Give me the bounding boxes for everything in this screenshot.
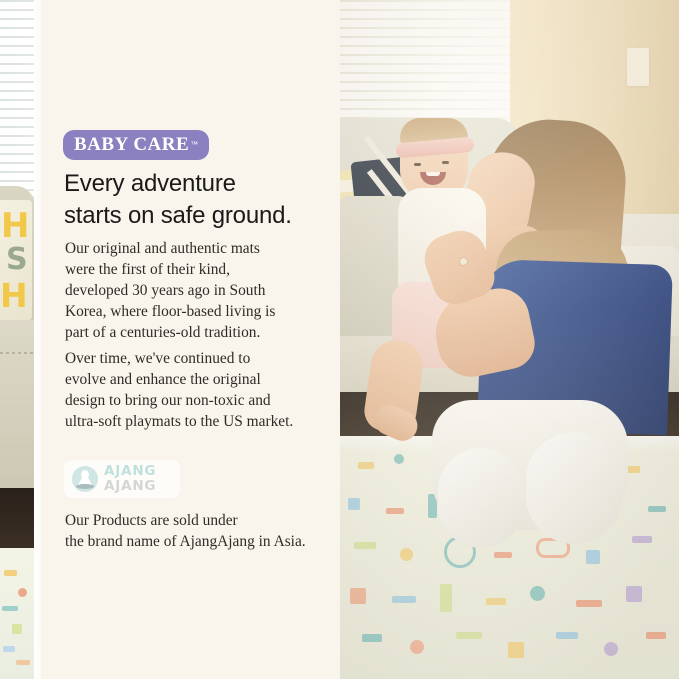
paragraph2-line-4: ultra-soft playmats to the US market.	[65, 411, 333, 432]
body-paragraph-2: Over time, we've continued to evolve and…	[65, 348, 333, 432]
text-panel: BABY CARE™ Every adventure starts on saf…	[41, 0, 340, 679]
page-headline: Every adventure starts on safe ground.	[64, 168, 332, 233]
mother-knee-right	[526, 432, 622, 544]
pillow-letter-1: H	[1, 206, 29, 246]
pillow-letter-2: S	[6, 242, 28, 277]
body-paragraph-1: Our original and authentic mats were the…	[65, 238, 333, 343]
ajangajang-logo: AJANG AJANG	[64, 460, 180, 498]
paragraph3-line-2: the brand name of AjangAjang in Asia.	[65, 531, 333, 552]
paragraph1-line-2: were the first of their kind,	[65, 259, 333, 280]
baby-care-logo-text: BABY CARE	[74, 135, 189, 154]
wall-switch-plate	[627, 48, 649, 86]
body-paragraph-3: Our Products are sold under the brand na…	[65, 510, 333, 552]
lifestyle-photo	[340, 0, 679, 679]
couch-seat-sliver	[0, 320, 34, 490]
ajang-child-icon	[72, 466, 98, 492]
panel-divider	[34, 0, 41, 679]
pillow-letter-3: H	[0, 276, 28, 315]
paragraph1-line-4: Korea, where floor-based living is	[65, 301, 333, 322]
ad-canvas: H S H BABY CARE™ Every adventure starts …	[0, 0, 679, 679]
playmat-sliver	[0, 548, 34, 679]
trademark-symbol: ™	[190, 140, 198, 149]
wood-floor-sliver	[0, 488, 34, 554]
paragraph1-line-3: developed 30 years ago in South	[65, 280, 333, 301]
ajang-word-top: AJANG	[104, 465, 156, 479]
ajang-word-bottom: AJANG	[104, 480, 156, 494]
couch-seam-stitching	[0, 352, 34, 354]
baby-care-logo-badge: BABY CARE™	[63, 130, 209, 160]
headline-line-2: starts on safe ground.	[64, 200, 332, 232]
mother-knee-left	[438, 448, 524, 548]
baby-eye-right	[442, 161, 449, 164]
paragraph2-line-3: design to bring our non-toxic and	[65, 390, 333, 411]
wedding-ring	[460, 258, 467, 265]
window-blinds-sliver	[0, 0, 34, 196]
baby-teeth	[426, 172, 440, 176]
lettered-pillow: H S H	[0, 200, 32, 320]
paragraph2-line-1: Over time, we've continued to	[65, 348, 333, 369]
paragraph2-line-2: evolve and enhance the original	[65, 369, 333, 390]
paragraph1-line-1: Our original and authentic mats	[65, 238, 333, 259]
window-light-wash	[340, 0, 510, 132]
baby-eye-left	[414, 163, 421, 166]
paragraph1-line-5: part of a centuries-old tradition.	[65, 322, 333, 343]
headline-line-1: Every adventure	[64, 168, 332, 200]
paragraph3-line-1: Our Products are sold under	[65, 510, 333, 531]
left-photo-sliver: H S H	[0, 0, 34, 679]
